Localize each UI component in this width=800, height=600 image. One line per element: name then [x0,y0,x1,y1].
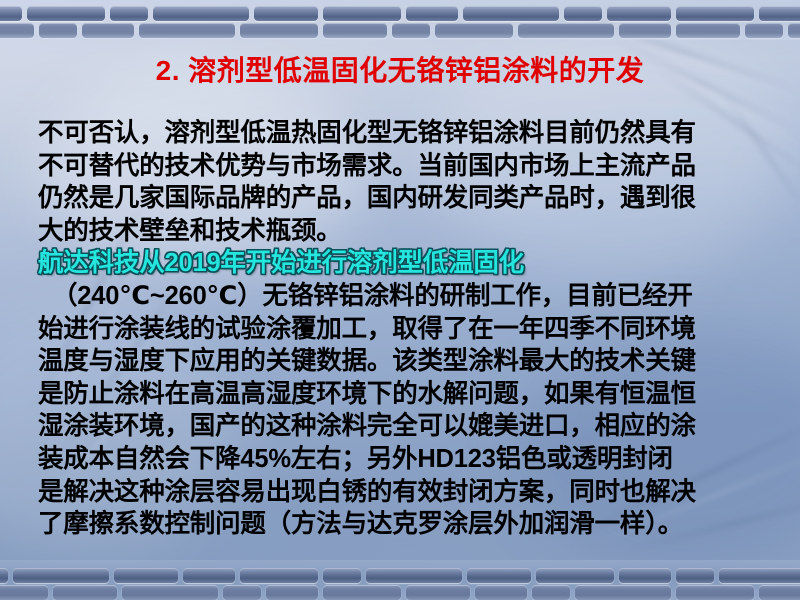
body-line: 温度与湿度下应用的关键数据。该类型涂料最大的技术关键 [38,345,768,378]
body-line: 仍然是几家国际品牌的产品，国内研发同类产品时，遇到很 [38,182,768,215]
body-line: 不可否认，溶剂型低温热固化型无铬锌铝涂料目前仍然具有 [38,117,768,150]
body-line: 大的技术壁垒和技术瓶颈。 [38,215,768,248]
slide-content: 2. 溶剂型低温固化无铬锌铝涂料的开发 不可否认，溶剂型低温热固化型无铬锌铝涂料… [0,0,800,600]
body-line: 始进行涂装线的试验涂覆加工，取得了在一年四季不同环境 [38,313,768,346]
body-line: 是解决这种涂层容易出现白锈的有效封闭方案，同时也解决 [38,476,768,509]
slide-body-text: 不可否认，溶剂型低温热固化型无铬锌铝涂料目前仍然具有 不可替代的技术优势与市场需… [38,117,768,541]
body-line: 是防止涂料在高温高湿度环境下的水解问题，如果有恒温恒 [38,378,768,411]
slide-title: 2. 溶剂型低温固化无铬锌铝涂料的开发 [0,56,800,87]
body-line-highlighted: 航达科技从2019年开始进行溶剂型低温固化 [38,247,768,280]
body-line: 湿涂装环境，国产的这种涂料完全可以媲美进口，相应的涂 [38,410,768,443]
body-line: 了摩擦系数控制问题（方法与达克罗涂层外加润滑一样）。 [38,508,768,541]
body-line: 不可替代的技术优势与市场需求。当前国内市场上主流产品 [38,150,768,183]
body-line: 装成本自然会下降45%左右；另外HD123铝色或透明封闭 [38,443,768,476]
presentation-slide: 2. 溶剂型低温固化无铬锌铝涂料的开发 不可否认，溶剂型低温热固化型无铬锌铝涂料… [0,0,800,600]
body-line: （240℃~260℃）无铬锌铝涂料的研制工作，目前已经开 [38,280,768,313]
